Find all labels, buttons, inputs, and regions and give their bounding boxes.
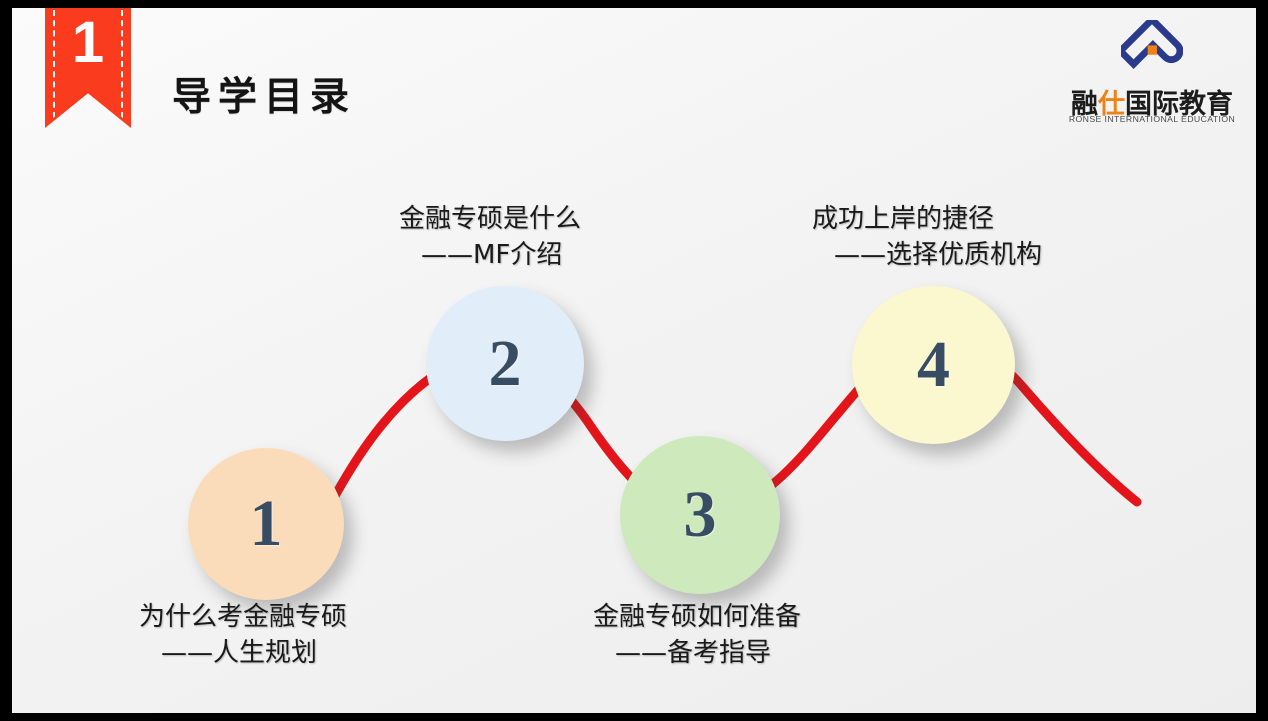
node-caption-2-line1: 金融专硕是什么 [399,204,581,234]
node-number-2: 2 [489,331,522,397]
ronse-diamond-logo-mark-icon [1121,20,1183,82]
node-caption-1-line2: ——人生规划 [139,636,347,672]
node-caption-3-line2: ——备考指导 [593,636,801,672]
node-caption-3: 金融专硕如何准备 ——备考指导 [593,600,801,672]
node-caption-4: 成功上岸的捷径 ——选择优质机构 [812,202,1042,274]
node-number-3: 3 [684,482,717,548]
node-caption-3-line1: 金融专硕如何准备 [593,602,801,632]
node-circle-2[interactable]: 2 [426,286,584,441]
node-caption-1: 为什么考金融专硕 ——人生规划 [139,600,347,672]
brand-name-en: RONSE INTERNATIONAL EDUCATION [1066,114,1237,124]
node-caption-2: 金融专硕是什么 ——MF介绍 [399,202,581,274]
node-number-4: 4 [917,332,950,398]
node-caption-4-line1: 成功上岸的捷径 [812,204,994,234]
presentation-screen: 1 2 3 4 金融专硕是什么 ——MF介绍 成功上岸的捷径 ——选择优质机构 … [0,0,1268,721]
node-caption-2-line2: ——MF介绍 [399,238,581,274]
node-circle-3[interactable]: 3 [620,436,780,594]
slide-canvas: 1 2 3 4 金融专硕是什么 ——MF介绍 成功上岸的捷径 ——选择优质机构 … [12,8,1256,713]
ribbon-number: 1 [45,14,131,72]
node-caption-1-line1: 为什么考金融专硕 [139,602,347,632]
node-number-1: 1 [250,491,283,557]
node-circle-1[interactable]: 1 [188,448,344,600]
node-caption-4-line2: ——选择优质机构 [812,238,1042,274]
node-circle-4[interactable]: 4 [852,286,1015,444]
page-title: 导学目录 [172,66,356,122]
brand-logo: 融仕国际教育 RONSE INTERNATIONAL EDUCATION [1068,20,1236,126]
